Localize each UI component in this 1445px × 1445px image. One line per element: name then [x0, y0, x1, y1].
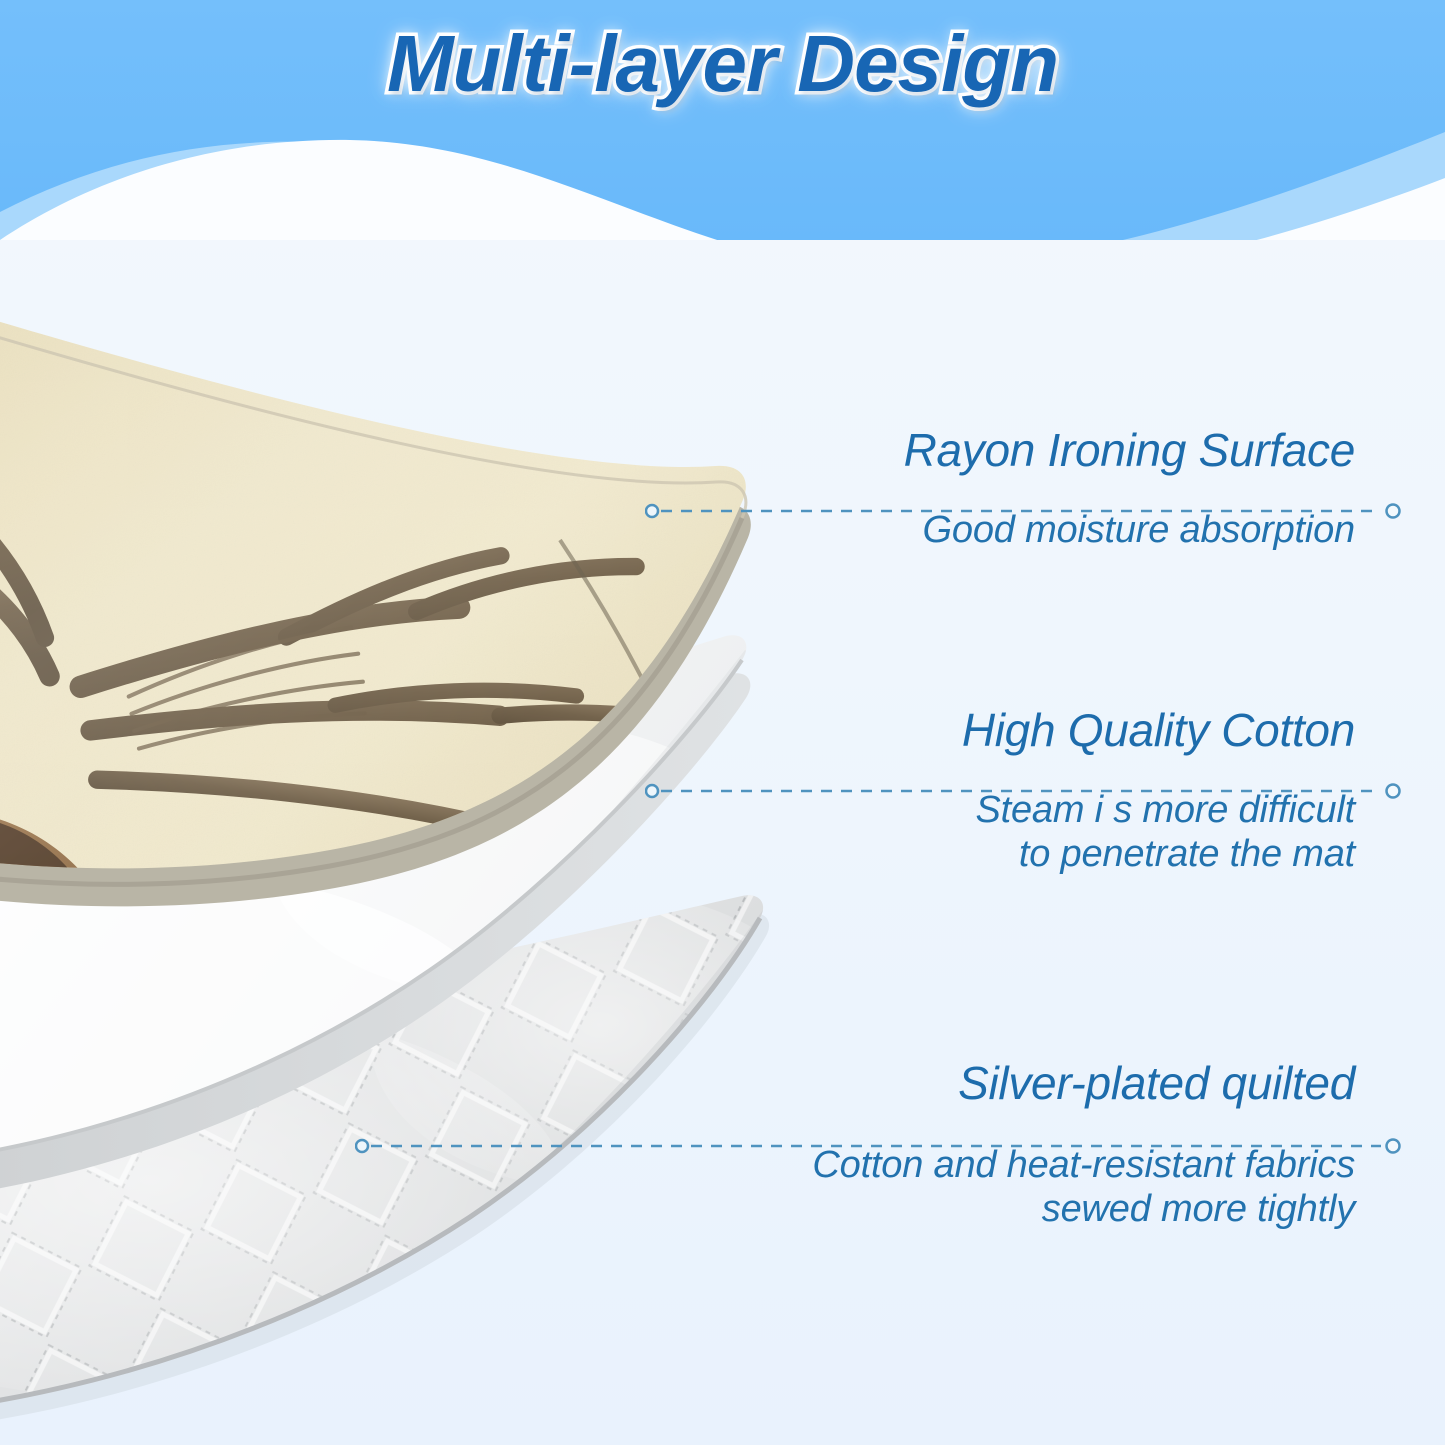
callout-endpoint-quilted	[1387, 1140, 1400, 1153]
callout-endpoint-rayon	[1387, 505, 1400, 518]
callout-title-quilted: Silver-plated quilted	[645, 1058, 1355, 1109]
layer-marker-cotton	[646, 785, 658, 797]
callout-title-rayon: Rayon Ironing Surface	[645, 425, 1355, 476]
callout-rayon: Rayon Ironing Surface Good moisture abso…	[645, 425, 1405, 552]
callout-cotton: High Quality Cotton Steam i s more diffi…	[645, 705, 1405, 877]
page-title: Multi-layer Design	[0, 18, 1445, 110]
callout-quilted: Silver-plated quilted Cotton and heat-re…	[645, 1058, 1405, 1232]
layer-marker-quilted	[356, 1140, 368, 1152]
connector-line-cotton	[645, 783, 1405, 797]
callout-sub-cotton-line-2: to penetrate the mat	[645, 832, 1355, 877]
callout-endpoint-cotton	[1387, 785, 1400, 798]
callout-sub-quilted-line-2: sewed more tightly	[645, 1187, 1355, 1232]
layer-marker-rayon	[646, 505, 658, 517]
callout-title-cotton: High Quality Cotton	[645, 705, 1355, 756]
header-banner: Multi-layer Design	[0, 0, 1445, 240]
connector-line-quilted	[355, 1138, 1405, 1152]
connector-line-rayon	[645, 503, 1405, 517]
